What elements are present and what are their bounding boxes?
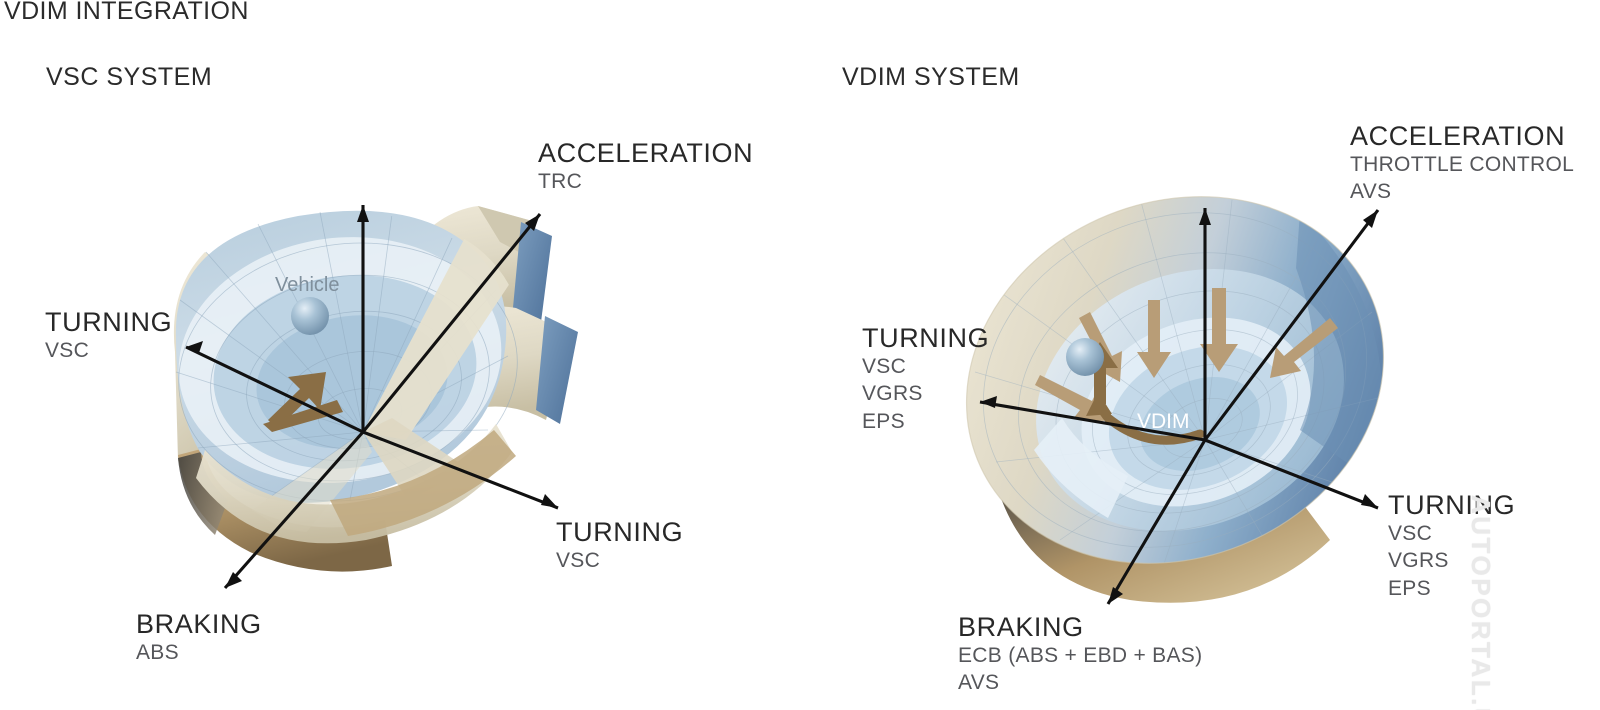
- vdim-label-braking: BRAKING ECB (ABS + EBD + BAS) AVS: [958, 613, 1202, 697]
- vdim-label-acceleration: ACCELERATION THROTTLE CONTROL AVS: [1350, 122, 1574, 206]
- vdim-label-turning-right: TURNING VSC VGRS EPS: [1388, 491, 1515, 602]
- vdim-system-diagram: VDIM: [0, 0, 1600, 710]
- vdim-vehicle-sphere: [1066, 338, 1104, 376]
- vsc-label-turning-right: TURNING VSC: [556, 518, 683, 574]
- vsc-label-braking: BRAKING ABS: [136, 610, 262, 666]
- vdim-label-turning-left: TURNING VSC VGRS EPS: [862, 324, 989, 435]
- vdim-bowl-shape: [911, 135, 1439, 625]
- vsc-label-acceleration: ACCELERATION TRC: [538, 139, 753, 195]
- vdim-center-label: VDIM: [1137, 410, 1190, 433]
- vsc-label-turning-left: TURNING VSC: [45, 308, 172, 364]
